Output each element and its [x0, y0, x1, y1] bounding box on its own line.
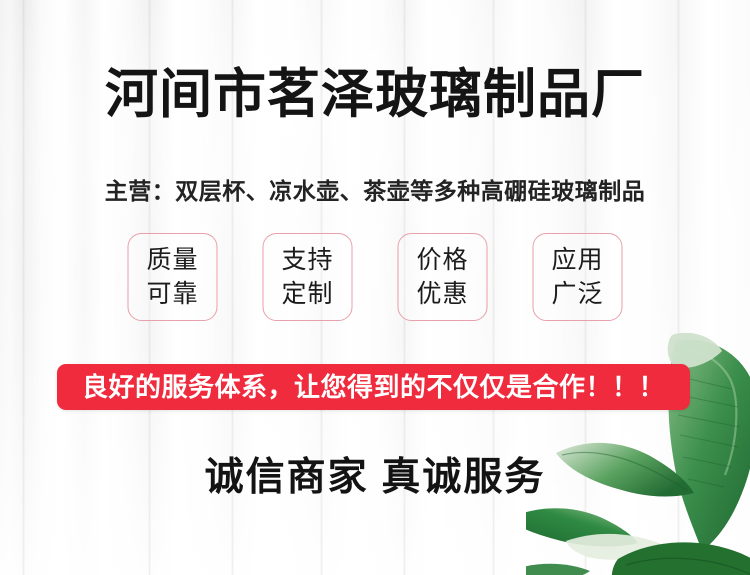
badge-line-top: 支持: [281, 243, 333, 278]
page-subtitle: 主营：双层杯、凉水壶、茶壶等多种高硼硅玻璃制品: [0, 178, 750, 206]
page-title: 河间市茗泽玻璃制品厂: [0, 68, 750, 121]
badge-line-top: 应用: [551, 243, 603, 278]
service-banner-text: 良好的服务体系，让您得到的不仅仅是合作！！！: [82, 374, 665, 400]
badge-line-top: 质量: [146, 243, 198, 278]
badge-line-bottom: 优惠: [416, 277, 468, 312]
badge-line-top: 价格: [416, 243, 468, 278]
feature-badge-price: 价格 优惠: [398, 233, 488, 321]
badge-line-bottom: 可靠: [146, 277, 198, 312]
badge-line-bottom: 定制: [281, 277, 333, 312]
badge-line-bottom: 广泛: [551, 277, 603, 312]
feature-badge-row: 质量 可靠 支持 定制 价格 优惠 应用 广泛: [128, 233, 623, 321]
footer-slogan: 诚信商家 真诚服务: [0, 458, 750, 497]
feature-badge-application: 应用 广泛: [533, 233, 623, 321]
promo-banner: 河间市茗泽玻璃制品厂 主营：双层杯、凉水壶、茶壶等多种高硼硅玻璃制品 质量 可靠…: [0, 0, 750, 575]
feature-badge-quality: 质量 可靠: [128, 233, 218, 321]
service-banner: 良好的服务体系，让您得到的不仅仅是合作！！！: [57, 364, 690, 410]
feature-badge-customization: 支持 定制: [263, 233, 353, 321]
